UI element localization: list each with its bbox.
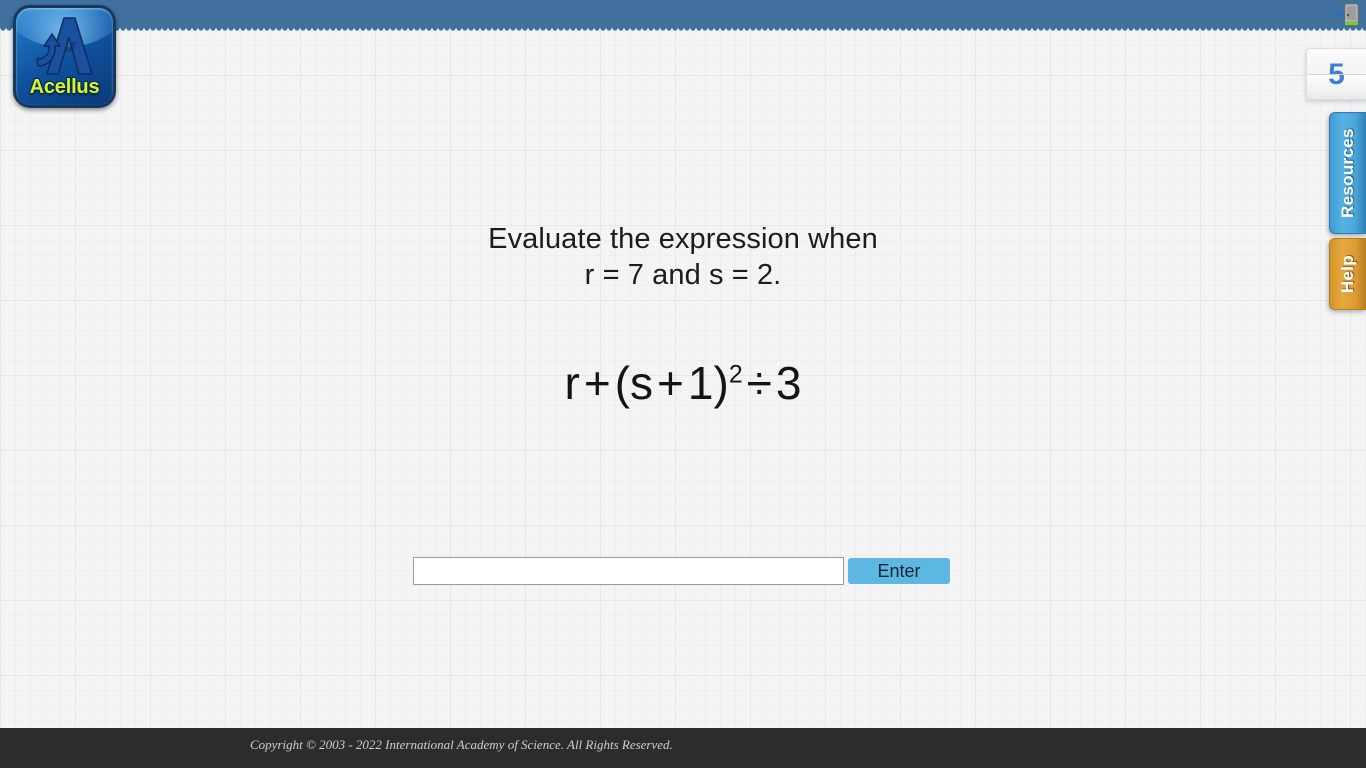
question-line-1: Evaluate the expression when xyxy=(488,223,878,255)
problem-counter-value: 5 xyxy=(1307,53,1366,97)
header-scalloped-edge xyxy=(0,28,1366,33)
math-expression: r+(s+1)2÷3 xyxy=(0,352,1366,414)
expr-term-r: r xyxy=(565,357,580,409)
expr-term-s: s xyxy=(630,357,653,409)
expr-exponent: 2 xyxy=(729,362,743,389)
answer-row: Enter xyxy=(413,557,950,585)
header-bar xyxy=(0,0,1366,28)
resources-tab-label: Resources xyxy=(1338,128,1358,218)
question-line-2: r = 7 and s = 2. xyxy=(0,257,1366,293)
exit-door-icon[interactable] xyxy=(1334,3,1360,26)
expr-operator-plus-1: + xyxy=(580,357,615,409)
answer-input[interactable] xyxy=(413,557,844,585)
acellus-a-arrow-icon xyxy=(30,16,100,78)
expr-term-one: 1 xyxy=(688,357,714,409)
counter-divider xyxy=(1307,74,1366,75)
expr-close-paren: ) xyxy=(714,357,729,409)
problem-counter: 5 xyxy=(1306,48,1366,100)
logo-wordmark: Acellus xyxy=(16,76,113,99)
help-tab-label: Help xyxy=(1338,255,1358,293)
expr-open-paren: ( xyxy=(615,357,630,409)
expr-term-three: 3 xyxy=(776,357,802,409)
help-tab[interactable]: Help xyxy=(1329,238,1366,310)
expr-operator-plus-2: + xyxy=(653,357,688,409)
acellus-logo: Acellus xyxy=(13,5,116,108)
footer-bar: Copyright © 2003 - 2022 International Ac… xyxy=(0,728,1366,768)
lesson-page: Algebraic Expressions - Substitution Ace… xyxy=(0,0,1366,768)
expr-operator-divide: ÷ xyxy=(743,357,776,409)
resources-tab[interactable]: Resources xyxy=(1329,112,1366,234)
copyright-text: Copyright © 2003 - 2022 International Ac… xyxy=(250,737,673,753)
question-prompt: Evaluate the expression when r = 7 and s… xyxy=(0,221,1366,293)
enter-button[interactable]: Enter xyxy=(848,558,950,584)
